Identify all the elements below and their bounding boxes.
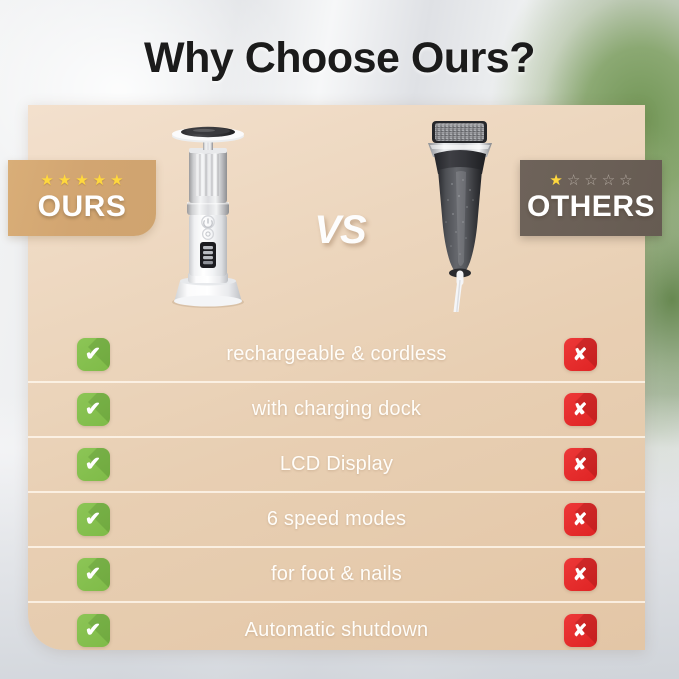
star-empty-icon: ☆ bbox=[602, 173, 615, 188]
cross-glyph: ✘ bbox=[573, 566, 587, 583]
feature-label: rechargeable & cordless bbox=[158, 343, 515, 366]
check-glyph: ✔ bbox=[85, 510, 101, 529]
check-icon: ✔ bbox=[77, 393, 110, 426]
others-cell: ✘ bbox=[515, 448, 645, 481]
check-icon: ✔ bbox=[77, 614, 110, 647]
others-label: OTHERS bbox=[527, 190, 655, 224]
cross-icon: ✘ bbox=[564, 558, 597, 591]
check-icon: ✔ bbox=[77, 338, 110, 371]
others-cell: ✘ bbox=[515, 614, 645, 647]
ours-cell: ✔ bbox=[28, 614, 158, 647]
check-icon: ✔ bbox=[77, 558, 110, 591]
others-product-image bbox=[408, 112, 518, 317]
star-icon: ★ bbox=[40, 173, 53, 188]
feature-row: ✔ 6 speed modes ✘ bbox=[28, 493, 645, 548]
star-icon: ★ bbox=[58, 173, 71, 188]
star-empty-icon: ☆ bbox=[619, 173, 632, 188]
feature-label: for foot & nails bbox=[158, 563, 515, 586]
star-empty-icon: ☆ bbox=[584, 173, 597, 188]
check-glyph: ✔ bbox=[85, 345, 101, 364]
star-icon: ★ bbox=[549, 173, 562, 188]
check-glyph: ✔ bbox=[85, 565, 101, 584]
cross-glyph: ✘ bbox=[573, 511, 587, 528]
ours-product-image bbox=[158, 110, 258, 315]
cross-glyph: ✘ bbox=[573, 456, 587, 473]
others-cell: ✘ bbox=[515, 393, 645, 426]
ours-star-rating: ★ ★ ★ ★ ★ bbox=[40, 173, 123, 188]
feature-row: ✔ with charging dock ✘ bbox=[28, 383, 645, 438]
check-icon: ✔ bbox=[77, 503, 110, 536]
cross-icon: ✘ bbox=[564, 338, 597, 371]
feature-label: 6 speed modes bbox=[158, 508, 515, 531]
feature-row: ✔ Automatic shutdown ✘ bbox=[28, 603, 645, 658]
others-cell: ✘ bbox=[515, 503, 645, 536]
feature-row: ✔ for foot & nails ✘ bbox=[28, 548, 645, 603]
star-empty-icon: ☆ bbox=[567, 173, 580, 188]
ours-cell: ✔ bbox=[28, 338, 158, 371]
feature-row: ✔ LCD Display ✘ bbox=[28, 438, 645, 493]
ours-badge: ★ ★ ★ ★ ★ OURS bbox=[8, 160, 156, 236]
cross-icon: ✘ bbox=[564, 448, 597, 481]
check-glyph: ✔ bbox=[85, 621, 101, 640]
cross-glyph: ✘ bbox=[573, 346, 587, 363]
others-star-rating: ★ ☆ ☆ ☆ ☆ bbox=[549, 173, 632, 188]
check-glyph: ✔ bbox=[85, 400, 101, 419]
ours-cell: ✔ bbox=[28, 448, 158, 481]
cross-glyph: ✘ bbox=[573, 622, 587, 639]
feature-comparison-list: ✔ rechargeable & cordless ✘ ✔ with charg… bbox=[28, 328, 645, 658]
feature-label: with charging dock bbox=[158, 398, 515, 421]
cross-icon: ✘ bbox=[564, 614, 597, 647]
feature-row: ✔ rechargeable & cordless ✘ bbox=[28, 328, 645, 383]
ours-cell: ✔ bbox=[28, 503, 158, 536]
ours-cell: ✔ bbox=[28, 558, 158, 591]
check-icon: ✔ bbox=[77, 448, 110, 481]
star-icon: ★ bbox=[110, 173, 123, 188]
others-badge: ★ ☆ ☆ ☆ ☆ OTHERS bbox=[520, 160, 662, 236]
cross-icon: ✘ bbox=[564, 503, 597, 536]
check-glyph: ✔ bbox=[85, 455, 101, 474]
feature-label: Automatic shutdown bbox=[158, 619, 515, 642]
star-icon: ★ bbox=[93, 173, 106, 188]
cross-glyph: ✘ bbox=[573, 401, 587, 418]
others-cell: ✘ bbox=[515, 558, 645, 591]
versus-label: VS bbox=[295, 208, 385, 253]
feature-label: LCD Display bbox=[158, 453, 515, 476]
ours-label: OURS bbox=[38, 190, 127, 224]
ours-cell: ✔ bbox=[28, 393, 158, 426]
others-cell: ✘ bbox=[515, 338, 645, 371]
star-icon: ★ bbox=[75, 173, 88, 188]
page-title: Why Choose Ours? bbox=[0, 34, 679, 83]
cross-icon: ✘ bbox=[564, 393, 597, 426]
